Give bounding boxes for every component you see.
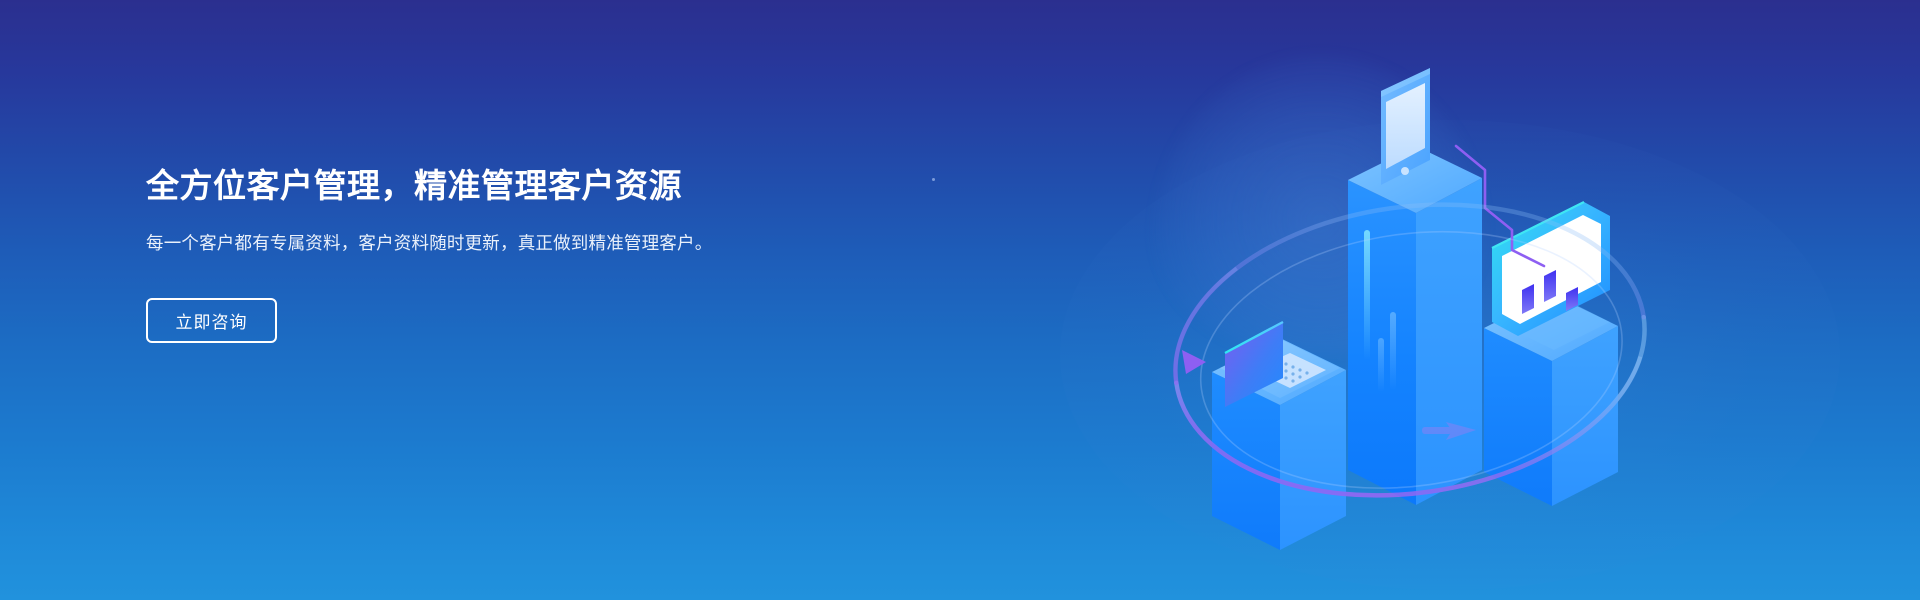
hero-banner: 全方位客户管理，精准管理客户资源 每一个客户都有专属资料，客户资料随时更新，真正… xyxy=(0,0,1920,600)
hero-illustration xyxy=(1140,50,1680,590)
hero-copy: 全方位客户管理，精准管理客户资源 每一个客户都有专属资料，客户资料随时更新，真正… xyxy=(146,166,786,343)
arrow-left-down-icon xyxy=(1182,350,1206,374)
hero-subtitle: 每一个客户都有专属资料，客户资料随时更新，真正做到精准管理客户。 xyxy=(146,230,731,257)
bar-center xyxy=(1348,146,1482,505)
page-title: 全方位客户管理，精准管理客户资源 xyxy=(146,166,786,206)
sparkle-dot xyxy=(932,178,935,181)
consult-now-button[interactable]: 立即咨询 xyxy=(146,298,277,343)
